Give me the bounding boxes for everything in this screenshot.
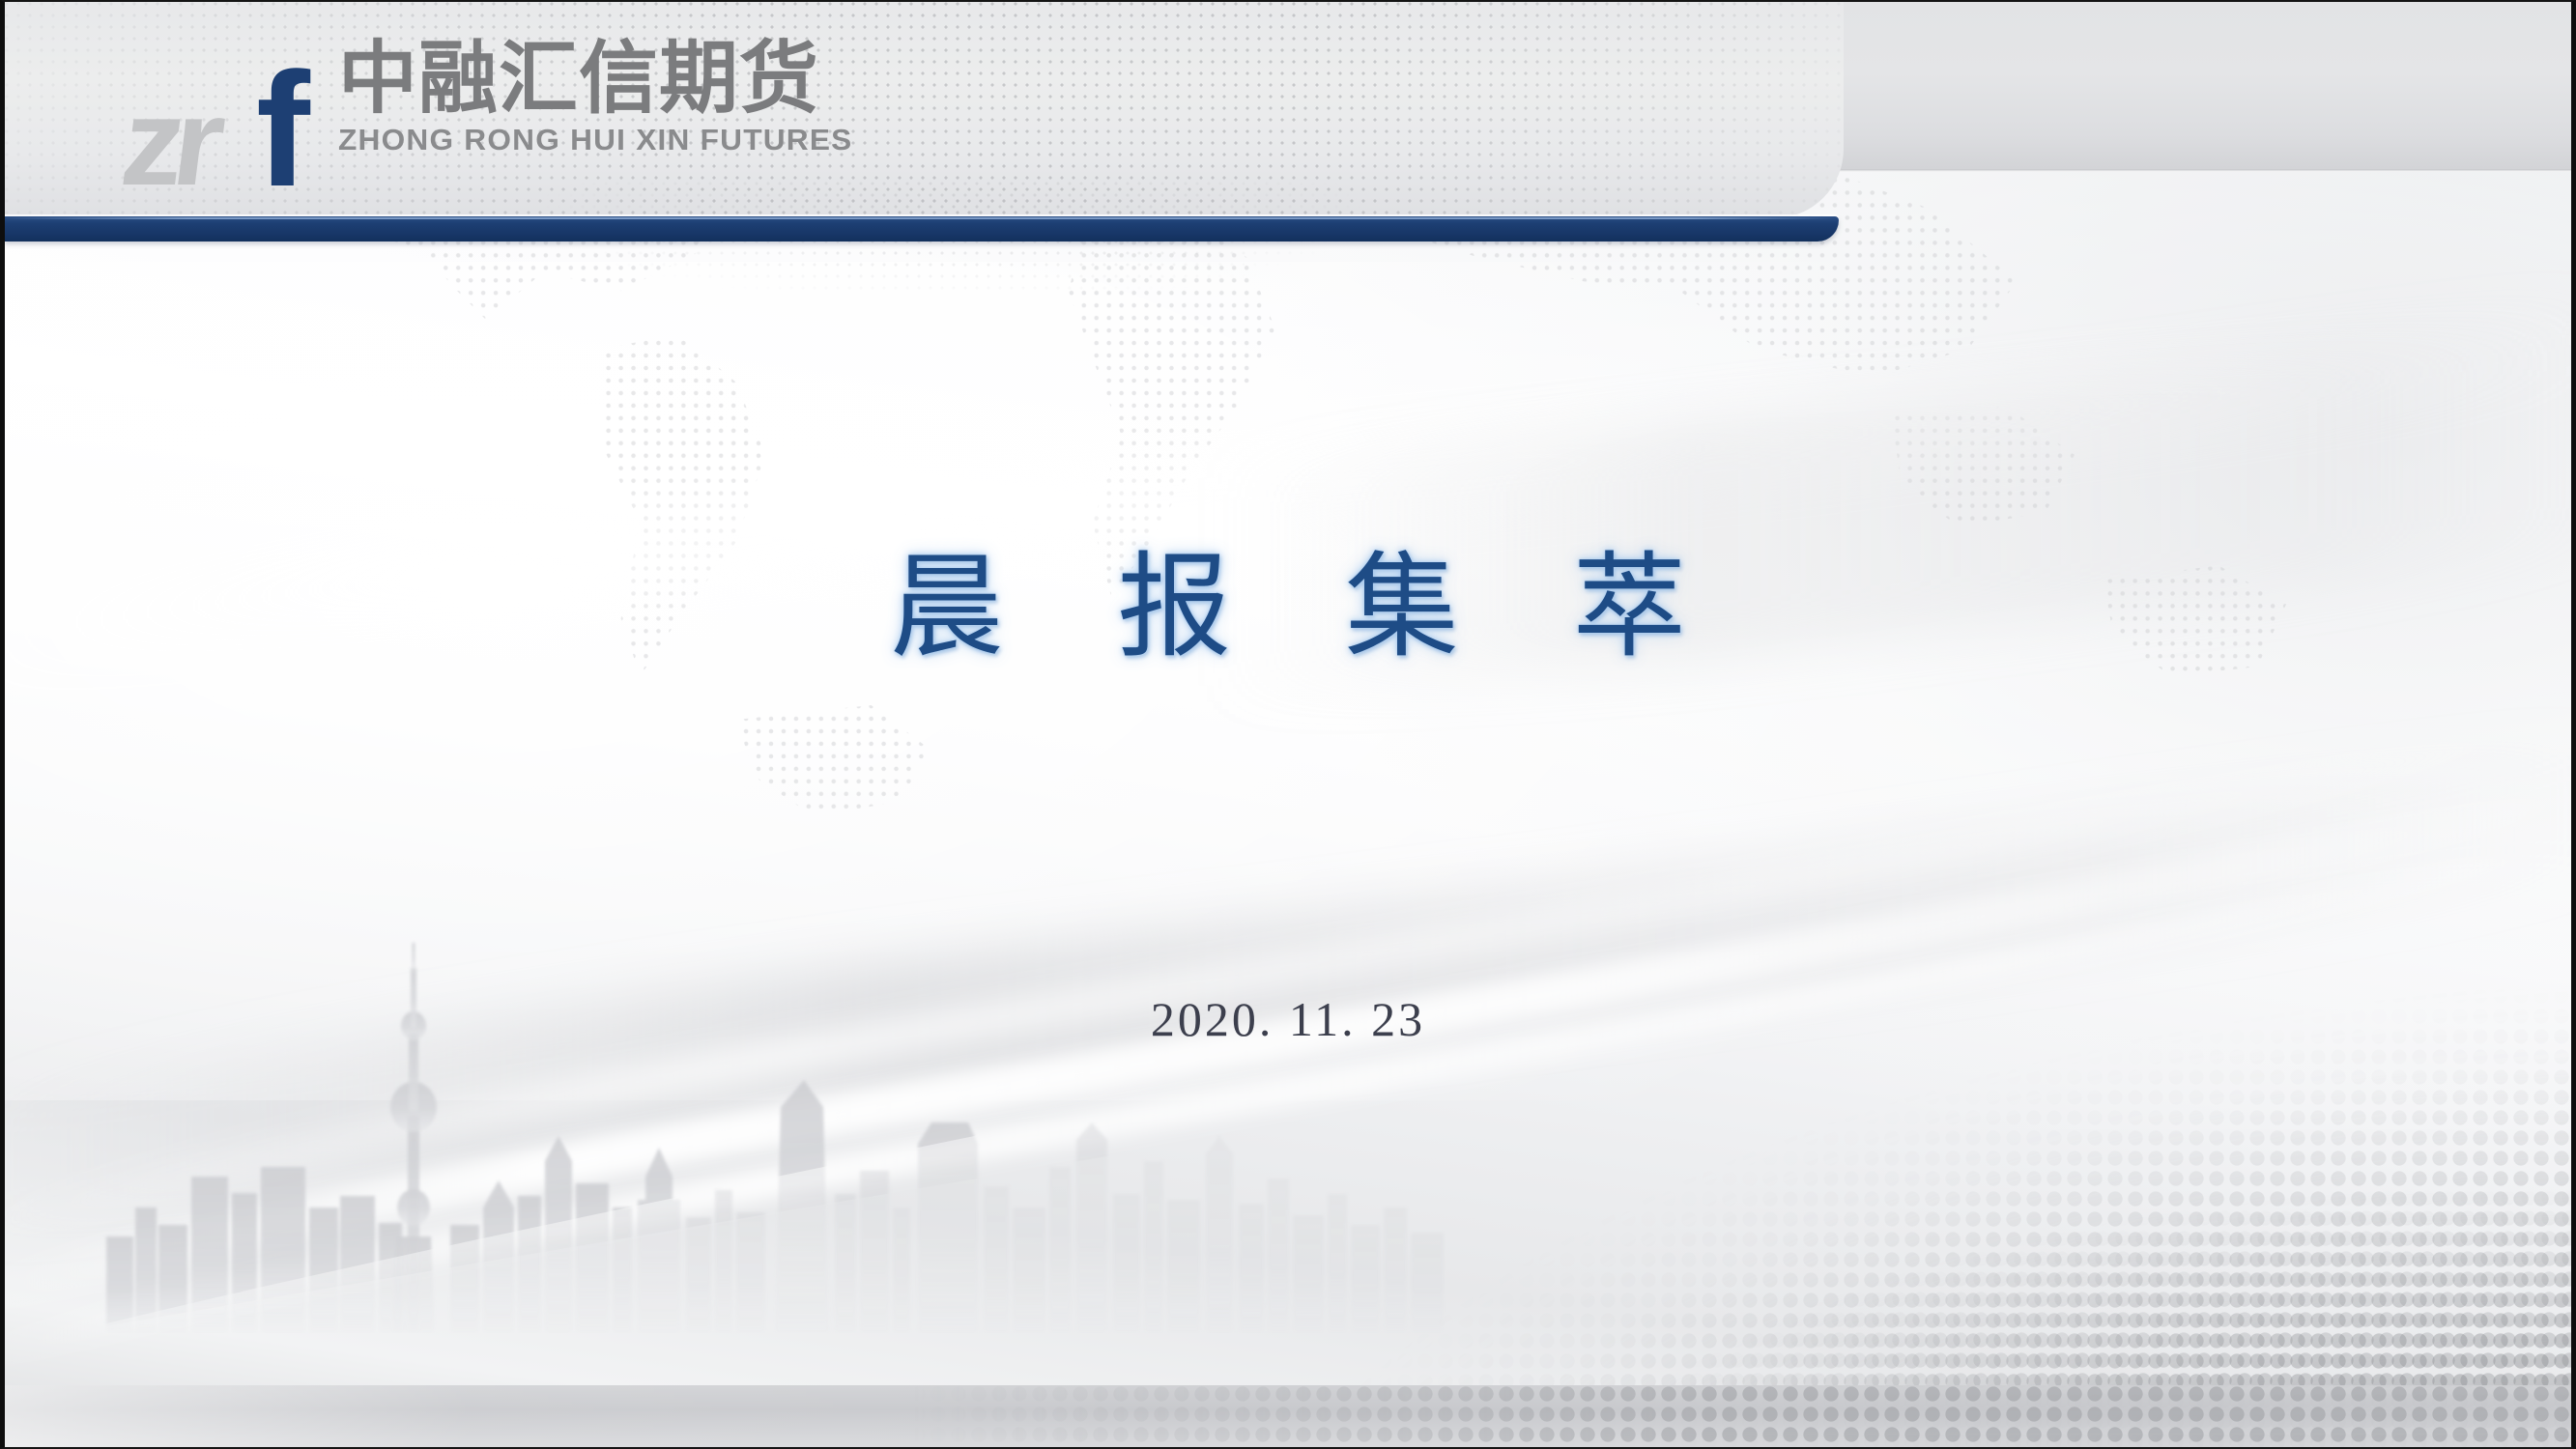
logomark-f-text: f — [256, 48, 310, 211]
company-name-cn: 中融汇信期货 — [338, 41, 843, 118]
company-name-en: ZHONG RONG HUI XIN FUTURES — [338, 125, 852, 155]
page-title: 晨 报 集 萃 — [847, 548, 1730, 668]
slide-title-container: 晨 报 集 萃 — [5, 548, 2571, 668]
zrf-logomark-icon: zr f — [121, 35, 329, 189]
company-logo: zr f 中融汇信期货 ZHONG RONG HUI XIN FUTURES — [121, 35, 843, 189]
slide-date-container: 2020. 11. 23 — [5, 995, 2571, 1043]
slide-date: 2020. 11. 23 — [1151, 995, 1425, 1043]
bottom-band-highlight — [5, 1385, 2571, 1447]
shanghai-skyline-silhouette-icon — [87, 918, 1459, 1333]
logomark-zr-text: zr — [117, 81, 216, 205]
presentation-slide: zr f 中融汇信期货 ZHONG RONG HUI XIN FUTURES — [0, 0, 2576, 1449]
company-logo-text: 中融汇信期货 ZHONG RONG HUI XIN FUTURES — [338, 35, 843, 155]
